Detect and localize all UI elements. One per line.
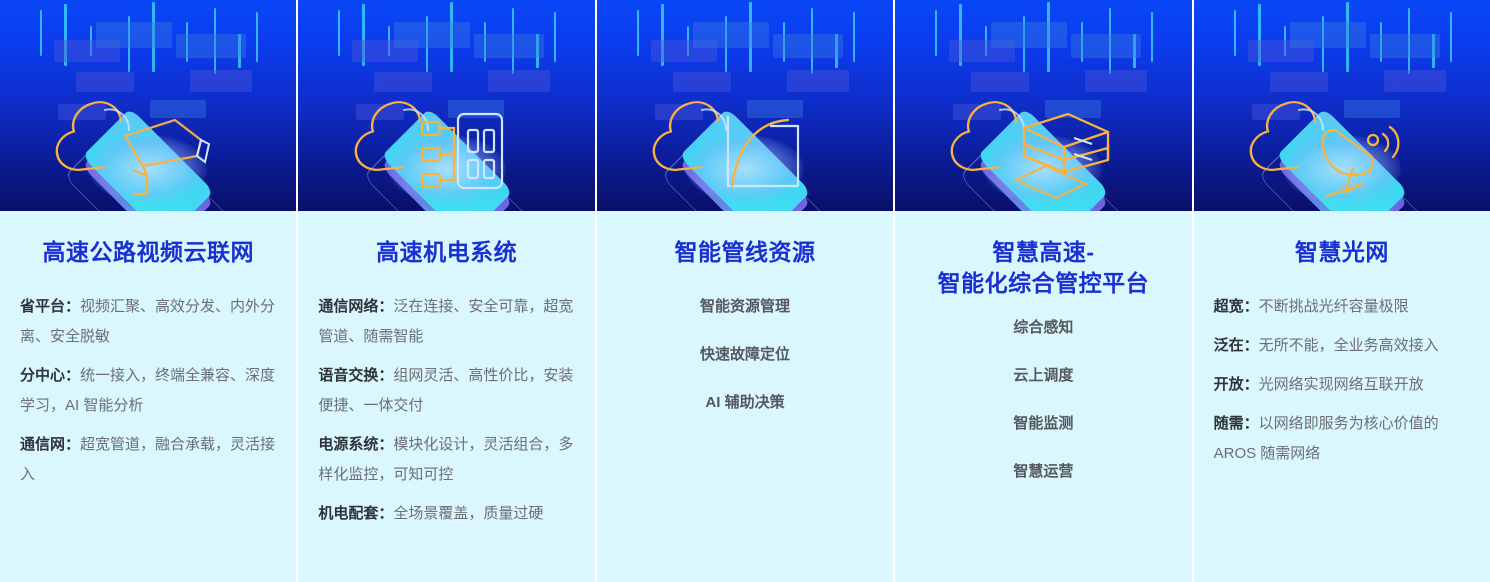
card-illustration [895, 0, 1191, 211]
feature-list: 通信网络：泛在连接、安全可靠，超宽管道、随需智能语音交换：组网灵活、高性价比，安… [318, 292, 574, 529]
feature-list: 智能资源管理快速故障定位AI 辅助决策 [617, 292, 873, 418]
feature-item: 开放：光网络实现网络互联开放 [1214, 370, 1470, 400]
card-title: 高速机电系统 [318, 237, 574, 268]
feature-card-3[interactable]: 智能管线资源智能资源管理快速故障定位AI 辅助决策 [597, 0, 893, 582]
feature-item: 快速故障定位 [617, 340, 873, 370]
feature-item: 智能资源管理 [617, 292, 873, 322]
feature-list: 综合感知云上调度智能监测智慧运营 [915, 313, 1171, 487]
cctv-camera-icon [117, 110, 227, 211]
card-body: 高速公路视频云联网省平台：视频汇聚、高效分发、内外分离、安全脱敏分中心：统一接入… [0, 211, 296, 582]
feature-card-board: 高速公路视频云联网省平台：视频汇聚、高效分发、内外分离、安全脱敏分中心：统一接入… [0, 0, 1490, 582]
feature-text: 快速故障定位 [700, 346, 790, 363]
card-illustration [1194, 0, 1490, 211]
feature-list: 超宽：不断挑战光纤容量极限泛在：无所不能，全业务高效接入开放：光网络实现网络互联… [1214, 292, 1470, 469]
network-cabinet-icon [416, 110, 526, 211]
feature-label: 通信网： [20, 436, 80, 453]
feature-text: AI 辅助决策 [705, 394, 784, 411]
feature-label: 随需： [1214, 415, 1259, 432]
feature-item: 省平台：视频汇聚、高效分发、内外分离、安全脱敏 [20, 292, 276, 352]
feature-text: 无所不能，全业务高效接入 [1259, 337, 1439, 354]
isometric-stage [908, 104, 1178, 211]
feature-item: 泛在：无所不能，全业务高效接入 [1214, 331, 1470, 361]
isometric-stage [312, 104, 582, 211]
card-illustration [298, 0, 594, 211]
feature-item: 智能监测 [915, 409, 1171, 439]
satellite-dish-icon [1311, 110, 1421, 211]
server-rack-icon [1012, 110, 1122, 211]
feature-text: 全场景覆盖，质量过硬 [393, 505, 543, 522]
feature-card-2[interactable]: 高速机电系统通信网络：泛在连接、安全可靠，超宽管道、随需智能语音交换：组网灵活、… [298, 0, 594, 582]
feature-card-1[interactable]: 高速公路视频云联网省平台：视频汇聚、高效分发、内外分离、安全脱敏分中心：统一接入… [0, 0, 296, 582]
card-body: 智慧高速-智能化综合管控平台综合感知云上调度智能监测智慧运营 [895, 211, 1191, 582]
feature-label: 语音交换： [318, 367, 393, 384]
feature-label: 泛在： [1214, 337, 1259, 354]
feature-label: 开放： [1214, 376, 1259, 393]
feature-item: 电源系统：模块化设计，灵活组合，多样化监控，可知可控 [318, 430, 574, 490]
feature-text: 智慧运营 [1013, 463, 1073, 480]
feature-text: 智能监测 [1013, 415, 1073, 432]
feature-item: 分中心：统一接入，终端全兼容、深度学习，AI 智能分析 [20, 361, 276, 421]
feature-text: 综合感知 [1013, 319, 1073, 336]
card-title: 智能管线资源 [617, 237, 873, 268]
feature-item: 智慧运营 [915, 457, 1171, 487]
feature-card-4[interactable]: 智慧高速-智能化综合管控平台综合感知云上调度智能监测智慧运营 [895, 0, 1191, 582]
card-body: 高速机电系统通信网络：泛在连接、安全可靠，超宽管道、随需智能语音交换：组网灵活、… [298, 211, 594, 582]
feature-label: 电源系统： [318, 436, 393, 453]
feature-card-5[interactable]: 智慧光网超宽：不断挑战光纤容量极限泛在：无所不能，全业务高效接入开放：光网络实现… [1194, 0, 1490, 582]
feature-label: 分中心： [20, 367, 80, 384]
isometric-stage [1207, 104, 1477, 211]
feature-item: 通信网络：泛在连接、安全可靠，超宽管道、随需智能 [318, 292, 574, 352]
feature-list: 省平台：视频汇聚、高效分发、内外分离、安全脱敏分中心：统一接入，终端全兼容、深度… [20, 292, 276, 490]
feature-item: 云上调度 [915, 361, 1171, 391]
card-title: 高速公路视频云联网 [20, 237, 276, 268]
feature-item: 综合感知 [915, 313, 1171, 343]
feature-item: 机电配套：全场景覆盖，质量过硬 [318, 499, 574, 529]
feature-item: AI 辅助决策 [617, 388, 873, 418]
feature-text: 云上调度 [1013, 367, 1073, 384]
feature-item: 超宽：不断挑战光纤容量极限 [1214, 292, 1470, 322]
feature-text: 不断挑战光纤容量极限 [1259, 298, 1409, 315]
card-illustration [597, 0, 893, 211]
feature-text: 智能资源管理 [700, 298, 790, 315]
isometric-stage [13, 104, 283, 211]
isometric-stage [610, 104, 880, 211]
card-title-line-2: 智能化综合管控平台 [915, 268, 1171, 299]
feature-text: 光网络实现网络互联开放 [1259, 376, 1424, 393]
card-body: 智慧光网超宽：不断挑战光纤容量极限泛在：无所不能，全业务高效接入开放：光网络实现… [1194, 211, 1490, 582]
feature-label: 通信网络： [318, 298, 393, 315]
feature-item: 随需：以网络即服务为核心价值的 AROS 随需网络 [1214, 409, 1470, 469]
feature-label: 超宽： [1214, 298, 1259, 315]
feature-label: 省平台： [20, 298, 80, 315]
feature-item: 通信网：超宽管道，融合承载，灵活接入 [20, 430, 276, 490]
card-title: 智慧光网 [1214, 237, 1470, 268]
card-illustration [0, 0, 296, 211]
card-title-line-1: 智慧高速- [915, 237, 1171, 268]
card-body: 智能管线资源智能资源管理快速故障定位AI 辅助决策 [597, 211, 893, 582]
card-title: 智慧高速-智能化综合管控平台 [915, 237, 1171, 299]
feature-item: 语音交换：组网灵活、高性价比，安装便捷、一体交付 [318, 361, 574, 421]
chart-glyph-icon [714, 110, 824, 211]
feature-label: 机电配套： [318, 505, 393, 522]
